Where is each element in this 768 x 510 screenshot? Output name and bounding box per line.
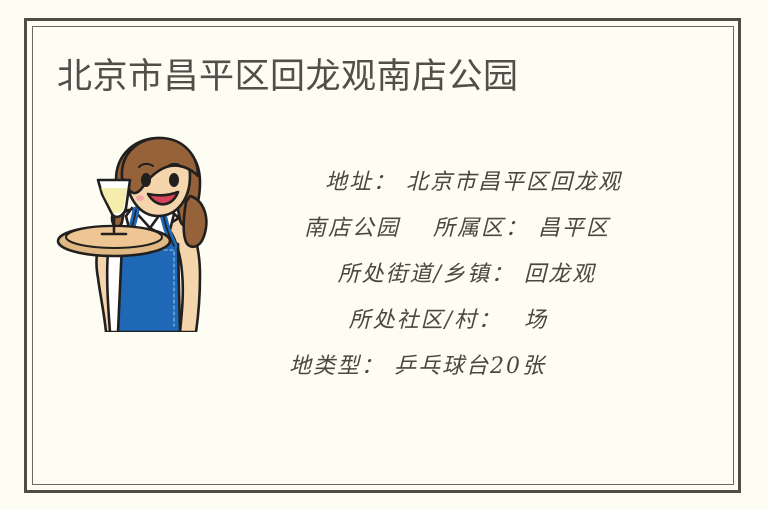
waitress-illustration [54,136,214,332]
info-line-community: 所处社区/村： 场 [222,298,632,344]
info-line-district: 南店公园 所属区： 昌平区 [222,206,632,252]
page-title: 北京市昌平区回龙观南店公园 [57,54,519,100]
info-card: 北京市昌平区回龙观南店公园 [0,0,768,510]
info-block: 地址： 北京市昌平区回龙观 南店公园 所属区： 昌平区 所处街道/乡镇： 回龙观… [222,160,632,390]
info-line-facility-type: 地类型： 乒乓球台20张 [222,344,632,390]
info-line-street: 所处街道/乡镇： 回龙观 [222,252,632,298]
info-line-address: 地址： 北京市昌平区回龙观 [222,160,632,206]
